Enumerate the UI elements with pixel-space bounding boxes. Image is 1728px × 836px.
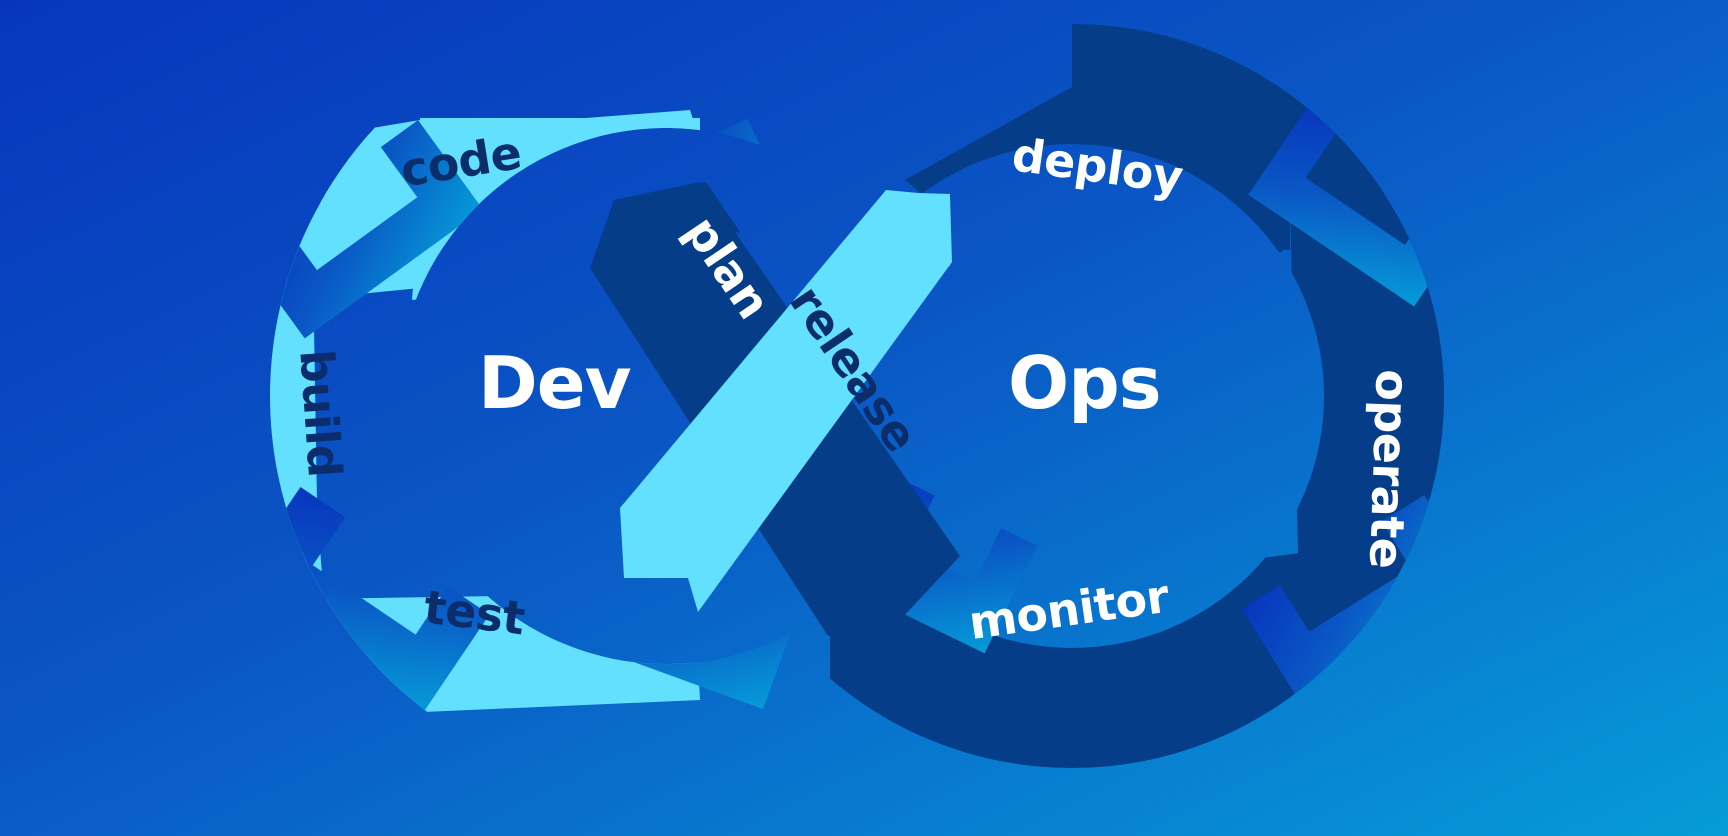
band-release-head[interactable] bbox=[878, 192, 950, 266]
devops-infinity-loop: Dev Ops code build test plan release dep… bbox=[0, 0, 1728, 836]
core-label-ops: Ops bbox=[1008, 341, 1161, 425]
core-label-dev: Dev bbox=[478, 341, 631, 425]
label-operate: operate bbox=[1359, 368, 1420, 569]
label-build: build bbox=[289, 348, 352, 479]
devops-diagram-canvas: Dev Ops code build test plan release dep… bbox=[0, 0, 1728, 836]
